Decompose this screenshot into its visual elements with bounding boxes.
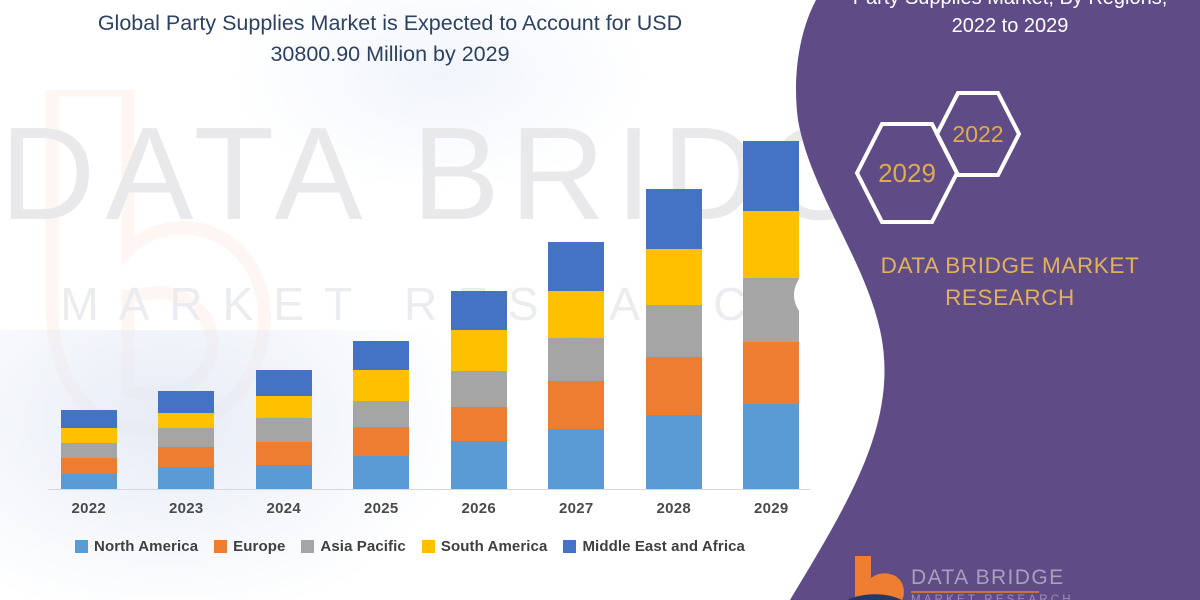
brand-name: DATA BRIDGE MARKET RESEARCH bbox=[820, 250, 1200, 314]
legend-item[interactable]: North America bbox=[75, 538, 198, 555]
legend-label: North America bbox=[94, 538, 198, 555]
bar-column-2022 bbox=[61, 60, 117, 489]
legend-swatch-icon bbox=[75, 540, 88, 553]
bar-segment bbox=[256, 370, 312, 396]
bar-segment bbox=[451, 330, 507, 371]
hexagon-group: 2029 2022 bbox=[820, 88, 1200, 228]
bar-segment bbox=[548, 291, 604, 338]
bar-segment bbox=[353, 341, 409, 370]
x-axis-tick-2024: 2024 bbox=[256, 500, 312, 517]
infographic-canvas: DATA BRIDGE MARKET RESEARCH Global Party… bbox=[0, 0, 1200, 600]
x-axis-tick-2026: 2026 bbox=[451, 500, 507, 517]
legend-item[interactable]: Europe bbox=[214, 538, 285, 555]
panel-decorative-circle bbox=[794, 268, 848, 322]
bar-segment bbox=[646, 415, 702, 489]
bar-segment bbox=[158, 467, 214, 489]
hexagon-2022: 2022 bbox=[932, 88, 1024, 180]
bar-segment bbox=[158, 447, 214, 468]
bar-segment bbox=[353, 370, 409, 401]
bar-segment bbox=[61, 458, 117, 473]
chart-baseline bbox=[48, 489, 810, 490]
bar-segment bbox=[548, 429, 604, 489]
bar-segment bbox=[743, 342, 799, 404]
bar-segment bbox=[256, 465, 312, 489]
chart-legend: North AmericaEuropeAsia PacificSouth Ame… bbox=[0, 538, 820, 555]
legend-swatch-icon bbox=[422, 540, 435, 553]
brand-line-1: DATA BRIDGE MARKET bbox=[820, 250, 1200, 282]
legend-swatch-icon bbox=[563, 540, 576, 553]
x-axis-tick-2027: 2027 bbox=[548, 500, 604, 517]
bar-column-2029 bbox=[743, 60, 799, 489]
bar-segment bbox=[743, 404, 799, 489]
bar-segment bbox=[646, 189, 702, 249]
legend-label: South America bbox=[441, 538, 548, 555]
bar-segment bbox=[158, 428, 214, 446]
bar-segment bbox=[646, 357, 702, 416]
bar-segment bbox=[158, 391, 214, 414]
bar-column-2024 bbox=[256, 60, 312, 489]
brand-line-2: RESEARCH bbox=[820, 282, 1200, 314]
bar-segment bbox=[158, 413, 214, 428]
bar-segment bbox=[743, 211, 799, 278]
corner-logo-rule bbox=[911, 591, 1039, 593]
dbmr-logo-icon bbox=[845, 556, 907, 600]
legend-item[interactable]: Middle East and Africa bbox=[563, 538, 745, 555]
bar-segment bbox=[256, 442, 312, 466]
bar-segment bbox=[548, 381, 604, 429]
legend-item[interactable]: South America bbox=[422, 538, 548, 555]
bar-segment bbox=[61, 474, 117, 489]
bar-segment bbox=[353, 401, 409, 428]
bar-segment bbox=[451, 441, 507, 489]
x-axis-tick-2022: 2022 bbox=[61, 500, 117, 517]
legend-swatch-icon bbox=[301, 540, 314, 553]
panel-title: Party Supplies Market, By Regions, 2022 … bbox=[820, 0, 1200, 40]
legend-swatch-icon bbox=[214, 540, 227, 553]
x-axis-tick-2023: 2023 bbox=[158, 500, 214, 517]
bar-segment bbox=[61, 410, 117, 428]
bar-column-2025 bbox=[353, 60, 409, 489]
bar-segment bbox=[256, 396, 312, 419]
bar-column-2028 bbox=[646, 60, 702, 489]
corner-logo-name-1: DATA BRIDGE bbox=[911, 566, 1064, 590]
bar-segment bbox=[451, 371, 507, 407]
bar-column-2027 bbox=[548, 60, 604, 489]
bar-segment bbox=[548, 338, 604, 381]
bar-segment bbox=[646, 249, 702, 305]
bar-segment bbox=[743, 141, 799, 211]
bar-segment bbox=[61, 428, 117, 442]
x-axis-tick-2029: 2029 bbox=[743, 500, 799, 517]
x-axis-tick-2025: 2025 bbox=[353, 500, 409, 517]
bar-column-2026 bbox=[451, 60, 507, 489]
bar-group bbox=[40, 60, 820, 489]
bar-segment bbox=[61, 443, 117, 458]
x-axis-tick-2028: 2028 bbox=[646, 500, 702, 517]
legend-label: Asia Pacific bbox=[320, 538, 405, 555]
bar-segment bbox=[451, 291, 507, 330]
panel-content: Party Supplies Market, By Regions, 2022 … bbox=[820, 0, 1200, 600]
bar-segment bbox=[743, 278, 799, 343]
hexagon-2022-label: 2022 bbox=[952, 121, 1003, 148]
corner-logo: DATA BRIDGE MARKET RESEARCH bbox=[845, 556, 1105, 600]
corner-logo-name-2: MARKET RESEARCH bbox=[911, 594, 1074, 600]
bar-column-2023 bbox=[158, 60, 214, 489]
bar-segment bbox=[353, 427, 409, 456]
chart-plot-area bbox=[40, 60, 820, 490]
legend-item[interactable]: Asia Pacific bbox=[301, 538, 405, 555]
hexagon-2029-label: 2029 bbox=[878, 158, 936, 189]
x-axis-labels: 20222023202420252026202720282029 bbox=[40, 496, 820, 520]
bar-segment bbox=[646, 305, 702, 356]
bar-segment bbox=[451, 407, 507, 441]
legend-label: Middle East and Africa bbox=[582, 538, 745, 555]
bar-segment bbox=[353, 456, 409, 489]
legend-label: Europe bbox=[233, 538, 285, 555]
bar-segment bbox=[548, 242, 604, 291]
bar-segment bbox=[256, 418, 312, 442]
